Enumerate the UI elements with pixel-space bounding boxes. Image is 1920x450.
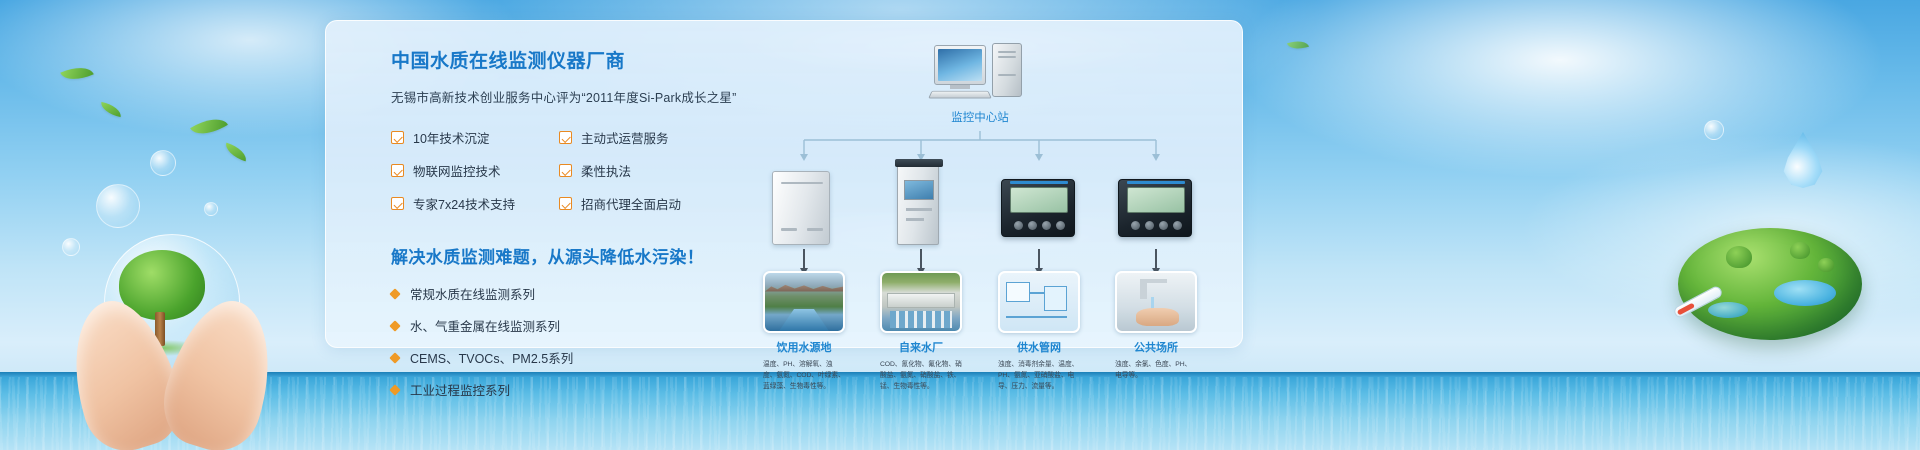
- checkbox-icon: [559, 197, 572, 210]
- node-desc: 温度、PH、溶解氧、浊度、氨氮、COD、叶绿素、蓝绿藻、生物毒性等。: [763, 359, 845, 393]
- section-title: 解决水质监测难题，从源头降低水污染！: [391, 243, 751, 268]
- feature-item: 招商代理全面启动: [559, 194, 751, 213]
- node-caption: 自来水厂 COD、氰化物、氟化物、硝酸盐、氨氮、硝酸盐、铁、锰、生物毒性等。: [880, 271, 962, 393]
- node-title: 饮用水源地: [763, 339, 845, 355]
- diamond-bullet-icon: [389, 384, 400, 395]
- checkbox-icon: [391, 131, 404, 144]
- earth-tree-icon: [1818, 258, 1834, 272]
- diamond-bullet-icon: [389, 352, 400, 363]
- river-landscape-photo: [763, 271, 845, 333]
- product-line-label: 水、气重金属在线监测系列: [410, 316, 560, 335]
- flow-arrow-icon: [920, 249, 922, 269]
- banner-stage: 中国水质在线监测仪器厂商 无锡市高新技术创业服务中心评为“2011年度Si-Pa…: [0, 0, 1920, 450]
- node-title: 自来水厂: [880, 339, 962, 355]
- checkbox-icon: [559, 131, 572, 144]
- content-panel: 中国水质在线监测仪器厂商 无锡市高新技术创业服务中心评为“2011年度Si-Pa…: [325, 20, 1243, 348]
- panel-meter-icon: [1110, 157, 1202, 249]
- hands-holding-tree-illustration: [72, 228, 272, 450]
- node-desc: 浊度、消毒剂余量、温度、PH、氨氮、亚硝酸盐、电导、压力、流量等。: [998, 359, 1080, 393]
- feature-checklist: 10年技术沉淀 主动式运营服务 物联网监控技术 柔性执法 专家7x24技术支持: [391, 128, 751, 213]
- earth-tree-icon: [1726, 246, 1752, 268]
- earth-lake: [1774, 280, 1836, 306]
- earth-lake: [1708, 302, 1748, 318]
- page-title: 中国水质在线监测仪器厂商: [391, 46, 751, 73]
- waterworks-plant-photo: [880, 271, 962, 333]
- list-item[interactable]: 工业过程监控系列: [391, 380, 751, 399]
- bubble-decoration: [150, 150, 176, 176]
- feature-label: 主动式运营服务: [581, 128, 669, 147]
- earth-sphere: [1678, 228, 1862, 340]
- keyboard-icon: [928, 91, 992, 99]
- feature-label: 专家7x24技术支持: [413, 194, 515, 213]
- center-station-label: 监控中心站: [904, 109, 1056, 125]
- feature-label: 招商代理全面启动: [581, 194, 681, 213]
- node-caption: 公共场所 浊度、余氯、色度、PH、电导等。: [1115, 271, 1197, 381]
- product-line-list: 常规水质在线监测系列 水、气重金属在线监测系列 CEMS、TVOCs、PM2.5…: [391, 284, 751, 399]
- feature-item: 物联网监控技术: [391, 161, 559, 180]
- analyzer-rack-icon: [875, 157, 967, 249]
- list-item[interactable]: 常规水质在线监测系列: [391, 284, 751, 303]
- bubble-decoration: [204, 202, 218, 216]
- monitor-icon: [934, 45, 986, 85]
- left-copy-column: 中国水质在线监测仪器厂商 无锡市高新技术创业服务中心评为“2011年度Si-Pa…: [391, 46, 751, 399]
- feature-label: 物联网监控技术: [413, 161, 501, 180]
- product-line-label: 常规水质在线监测系列: [410, 284, 535, 303]
- water-cabinet-icon: [758, 157, 850, 249]
- checkbox-icon: [391, 164, 404, 177]
- feature-item: 主动式运营服务: [559, 128, 751, 147]
- checkbox-icon: [559, 164, 572, 177]
- panel-meter-icon: [993, 157, 1085, 249]
- bubble-decoration: [96, 184, 140, 228]
- system-architecture-diagram: 监控中心站 饮用水源地 温度、PH、溶解氧、浊度、氨氮、: [756, 39, 1226, 339]
- feature-label: 柔性执法: [581, 161, 631, 180]
- bubble-decoration: [1704, 120, 1724, 140]
- list-item[interactable]: CEMS、TVOCs、PM2.5系列: [391, 348, 751, 367]
- product-line-label: 工业过程监控系列: [410, 380, 510, 399]
- page-subtitle: 无锡市高新技术创业服务中心评为“2011年度Si-Park成长之星”: [391, 87, 751, 106]
- feature-item: 柔性执法: [559, 161, 751, 180]
- pipe-network-diagram-photo: [998, 271, 1080, 333]
- feature-label: 10年技术沉淀: [413, 128, 489, 147]
- pc-tower-icon: [992, 43, 1022, 97]
- feature-item: 专家7x24技术支持: [391, 194, 559, 213]
- node-desc: 浊度、余氯、色度、PH、电导等。: [1115, 359, 1197, 381]
- feature-item: 10年技术沉淀: [391, 128, 559, 147]
- list-item[interactable]: 水、气重金属在线监测系列: [391, 316, 751, 335]
- node-title: 供水管网: [998, 339, 1080, 355]
- node-caption: 饮用水源地 温度、PH、溶解氧、浊度、氨氮、COD、叶绿素、蓝绿藻、生物毒性等。: [763, 271, 845, 393]
- earth-tree-icon: [1790, 242, 1810, 259]
- desktop-computer-icon: [934, 45, 1026, 101]
- flow-arrow-icon: [1155, 249, 1157, 269]
- flow-arrow-icon: [803, 249, 805, 269]
- monitor-stand: [950, 85, 970, 89]
- diamond-bullet-icon: [389, 288, 400, 299]
- node-caption: 供水管网 浊度、消毒剂余量、温度、PH、氨氮、亚硝酸盐、电导、压力、流量等。: [998, 271, 1080, 393]
- node-desc: COD、氰化物、氟化物、硝酸盐、氨氮、硝酸盐、铁、锰、生物毒性等。: [880, 359, 962, 393]
- checkbox-icon: [391, 197, 404, 210]
- handwashing-tap-photo: [1115, 271, 1197, 333]
- flow-arrow-icon: [1038, 249, 1040, 269]
- node-title: 公共场所: [1115, 339, 1197, 355]
- diamond-bullet-icon: [389, 320, 400, 331]
- product-line-label: CEMS、TVOCs、PM2.5系列: [410, 348, 573, 367]
